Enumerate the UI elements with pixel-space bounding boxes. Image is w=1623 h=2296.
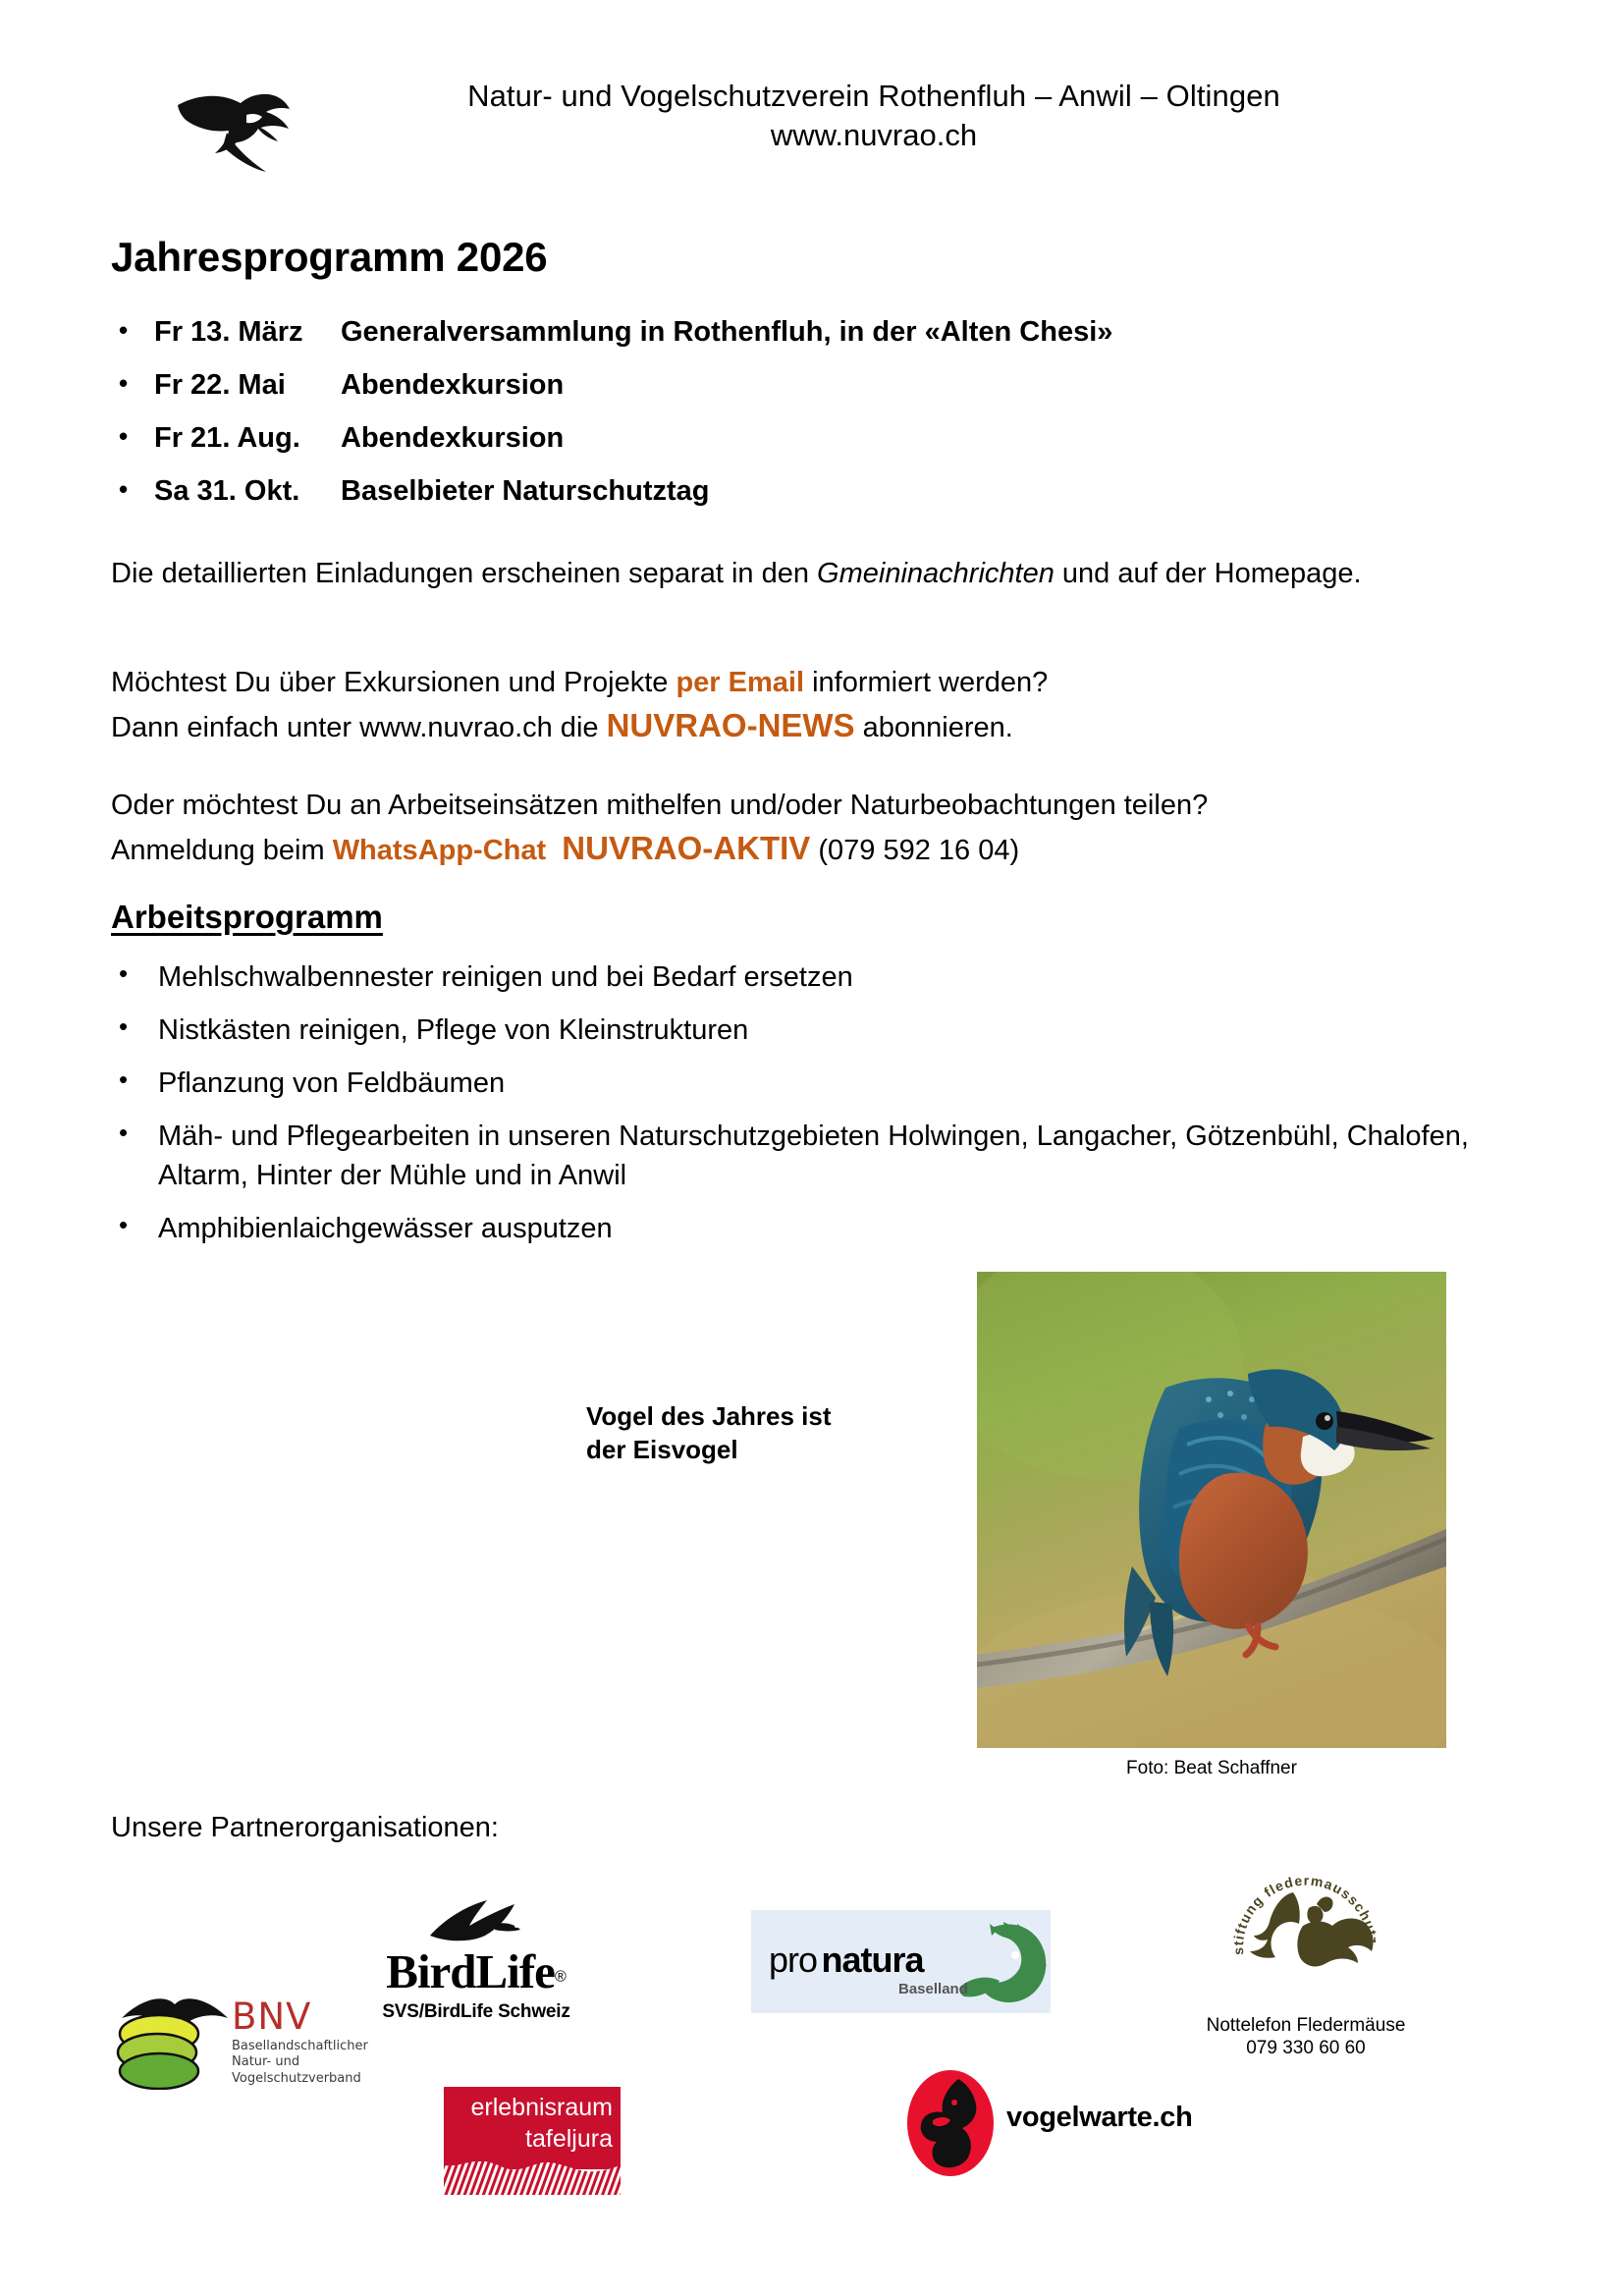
annual-program-list: • Fr 13. März Generalversammlung in Roth…: [111, 314, 1486, 526]
pro-natura-word-2: natura: [821, 1940, 923, 1980]
kingfisher-photo: [977, 1272, 1446, 1748]
partner-logo-birdlife[interactable]: BirdLife® SVS/BirdLife Schweiz: [349, 1890, 604, 2048]
page-header: Natur- und Vogelschutzverein Rothenfluh …: [0, 39, 1623, 187]
fledermaus-hotline-label: Nottelefon Fledermäuse: [1183, 2014, 1429, 2037]
invitations-paragraph: Die detaillierten Einladungen erscheinen…: [111, 554, 1505, 594]
task-text: Pflanzung von Feldbäumen: [158, 1064, 1505, 1103]
bird-of-the-year-caption: Vogel des Jahres ist der Eisvogel: [586, 1399, 881, 1467]
newsletter-paragraph: Möchtest Du über Exkursionen und Projekt…: [111, 663, 1505, 749]
event-description: Abendexkursion: [341, 367, 1486, 403]
event-description: Baselbieter Naturschutztag: [341, 473, 1486, 509]
newsletter-text-1: Möchtest Du über Exkursionen und Projekt…: [111, 667, 676, 698]
volunteer-line-2: Anmeldung beim WhatsApp-Chat NUVRAO-AKTI…: [111, 826, 1505, 872]
bird-caption-line-1: Vogel des Jahres ist: [586, 1399, 881, 1433]
event-description: Generalversammlung in Rothenfluh, in der…: [341, 314, 1486, 350]
organization-website: www.nuvrao.ch: [324, 116, 1424, 155]
whatsapp-chat-accent: WhatsApp-Chat: [333, 835, 546, 866]
vogelwarte-label: vogelwarte.ch: [1006, 2102, 1193, 2134]
birdlife-name: BirdLife: [386, 1944, 555, 1998]
partners-heading: Unsere Partnerorganisationen:: [111, 1812, 499, 1844]
newsletter-text-2: informiert werden?: [804, 667, 1048, 698]
birdlife-wordmark: BirdLife®: [349, 1947, 604, 1995]
bullet-icon: •: [111, 473, 154, 506]
per-email-accent: per Email: [676, 667, 804, 698]
volunteer-paragraph: Oder möchtest Du an Arbeitseinsätzen mit…: [111, 786, 1505, 872]
nuvrao-news-accent: NUVRAO-NEWS: [607, 707, 855, 743]
invitations-text-2: und auf der Homepage.: [1055, 558, 1362, 589]
bullet-icon: •: [111, 420, 154, 453]
partner-logo-vogelwarte[interactable]: vogelwarte.ch: [903, 2067, 1227, 2175]
bullet-icon: •: [111, 1011, 158, 1044]
list-item: • Mäh- und Pflegearbeiten in unseren Nat…: [111, 1117, 1505, 1195]
invitations-text-1: Die detaillierten Einladungen erscheinen…: [111, 558, 817, 589]
bullet-icon: •: [111, 957, 158, 991]
bullet-icon: •: [111, 367, 154, 400]
event-date: Fr 13. März: [154, 314, 341, 350]
list-item: • Nistkästen reinigen, Pflege von Kleins…: [111, 1011, 1505, 1050]
organization-name: Natur- und Vogelschutzverein Rothenfluh …: [324, 77, 1424, 116]
event-date: Fr 22. Mai: [154, 367, 341, 403]
swift-bird-icon: [162, 64, 309, 201]
partner-logo-tafeljura[interactable]: erlebnisraum tafeljura: [444, 2087, 621, 2195]
registered-trademark-icon: ®: [555, 1969, 567, 1986]
page-title: Jahresprogramm 2026: [111, 234, 547, 281]
bnv-sub-line-2: Natur- und: [232, 2054, 368, 2070]
document-page: Natur- und Vogelschutzverein Rothenfluh …: [0, 0, 1623, 2296]
event-row: • Fr 21. Aug. Abendexkursion: [111, 420, 1486, 473]
event-row: • Fr 22. Mai Abendexkursion: [111, 367, 1486, 420]
list-item: • Pflanzung von Feldbäumen: [111, 1064, 1505, 1103]
event-row: • Sa 31. Okt. Baselbieter Naturschutztag: [111, 473, 1486, 526]
nuvrao-aktiv-accent: NUVRAO-AKTIV: [562, 830, 810, 866]
pro-natura-word-1: pro: [769, 1940, 817, 1980]
work-program-list: • Mehlschwalbennester reinigen und bei B…: [111, 957, 1505, 1262]
contact-phone: (079 592 16 04): [818, 835, 1019, 866]
volunteer-text-1: Anmeldung beim: [111, 835, 333, 866]
bullet-icon: •: [111, 314, 154, 347]
pro-natura-wordmark: pro natura: [769, 1940, 924, 1981]
newsletter-text-4: abonnieren.: [855, 712, 1013, 743]
work-program-heading: Arbeitsprogramm: [111, 899, 383, 936]
newsletter-line-2: Dann einfach unter www.nuvrao.ch die NUV…: [111, 703, 1505, 749]
list-item: • Amphibienlaichgewässer ausputzen: [111, 1209, 1505, 1248]
task-text: Amphibienlaichgewässer ausputzen: [158, 1209, 1505, 1248]
fledermaus-hotline: Nottelefon Fledermäuse 079 330 60 60: [1183, 2014, 1429, 2059]
header-title-block: Natur- und Vogelschutzverein Rothenfluh …: [324, 77, 1424, 154]
volunteer-line-1: Oder möchtest Du an Arbeitseinsätzen mit…: [111, 786, 1505, 826]
event-date: Fr 21. Aug.: [154, 420, 341, 456]
list-item: • Mehlschwalbennester reinigen und bei B…: [111, 957, 1505, 997]
partner-logo-pro-natura[interactable]: pro natura Baselland: [751, 1910, 1051, 2013]
bullet-icon: •: [111, 1117, 158, 1150]
gmeininachrichten-italic: Gmeininachrichten: [817, 558, 1055, 589]
partner-logo-fledermausschutz[interactable]: stiftung fledermausschutz Nottelefon Fle…: [1183, 1861, 1429, 2057]
bullet-icon: •: [111, 1064, 158, 1097]
tafeljura-line-2: tafeljura: [454, 2126, 613, 2152]
event-row: • Fr 13. März Generalversammlung in Roth…: [111, 314, 1486, 367]
photo-credit: Foto: Beat Schaffner: [977, 1758, 1446, 1779]
bird-caption-line-2: der Eisvogel: [586, 1433, 881, 1466]
bullet-icon: •: [111, 1209, 158, 1242]
newsletter-line-1: Möchtest Du über Exkursionen und Projekt…: [111, 663, 1505, 703]
bnv-sub-line-3: Vogelschutzverband: [232, 2071, 368, 2087]
tafeljura-line-1: erlebnisraum: [454, 2095, 613, 2120]
task-text: Nistkästen reinigen, Pflege von Kleinstr…: [158, 1011, 1505, 1050]
birdlife-subtitle: SVS/BirdLife Schweiz: [349, 2001, 604, 2023]
task-text: Mehlschwalbennester reinigen und bei Bed…: [158, 957, 1505, 997]
fledermaus-hotline-number: 079 330 60 60: [1183, 2037, 1429, 2059]
newsletter-text-3: Dann einfach unter www.nuvrao.ch die: [111, 712, 607, 743]
event-date: Sa 31. Okt.: [154, 473, 341, 509]
pro-natura-region: Baselland: [898, 1981, 968, 1997]
partner-logo-bnv[interactable]: BNV Basellandschaftlicher Natur- und Vog…: [116, 1959, 361, 2141]
event-description: Abendexkursion: [341, 420, 1486, 456]
task-text: Mäh- und Pflegearbeiten in unseren Natur…: [158, 1117, 1505, 1195]
